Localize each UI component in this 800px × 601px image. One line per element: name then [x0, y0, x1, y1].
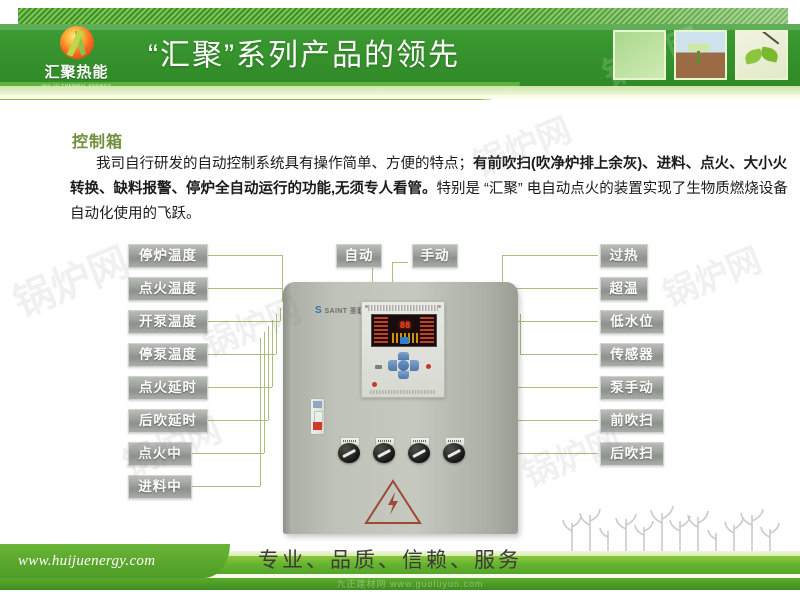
connector-left-3 [206, 321, 280, 322]
connector-right-2 [508, 288, 598, 289]
label-low-water-level[interactable]: 低水位 [600, 310, 664, 334]
connector-left-7-v [264, 332, 265, 453]
power-indicator [372, 382, 377, 387]
control-box-diagram: S SAINT 圣联 88 [0, 236, 800, 536]
led-bar-left [374, 317, 388, 344]
label-ignition-delay[interactable]: 点火延时 [128, 376, 208, 400]
connector-left-7 [188, 453, 264, 454]
connector-left-4-v [276, 314, 277, 354]
display-value: 88 [395, 321, 415, 331]
connector-right-3 [514, 321, 598, 322]
circuit-breaker[interactable] [310, 398, 325, 435]
label-manual[interactable]: 手动 [412, 244, 458, 268]
paragraph-part-1: 我司自行研发的自动控制系统具有操作简单、方便的特点； [96, 156, 473, 172]
footer-slogan: 专业、品质、信赖、服务 [258, 544, 522, 576]
page-title: “汇聚”系列产品的领先 [148, 30, 460, 82]
cabinet-left-edge [283, 282, 293, 534]
brand-mark: S [315, 305, 322, 316]
knob-dial[interactable] [443, 443, 465, 463]
screw-icon [438, 305, 441, 308]
section-title: 控制箱 [72, 128, 123, 152]
footer-url-tab[interactable]: www.huijuenergy.com [0, 544, 230, 578]
controller-title-strip [368, 305, 438, 311]
header-underline-second [0, 95, 800, 99]
arrow-right-icon[interactable] [410, 360, 419, 371]
company-logo: 汇聚热能 HUI JU THERMAL ENERGY [24, 26, 129, 88]
leaf-stem-icon [761, 30, 780, 45]
arrow-up-icon[interactable] [398, 352, 409, 360]
connector-left-6 [206, 420, 268, 421]
label-overheat[interactable]: 过热 [600, 244, 648, 268]
led-bar-right [420, 317, 434, 344]
label-auto[interactable]: 自动 [336, 244, 382, 268]
connector-right-6 [508, 420, 598, 421]
rotary-knob-2[interactable] [373, 437, 395, 463]
connector-right-5 [514, 387, 598, 388]
controller-display: 88 [371, 314, 437, 347]
knob-dial[interactable] [408, 443, 430, 463]
controller-footer-strip [370, 390, 436, 394]
breaker-red-indicator [313, 422, 322, 430]
connector-right-4 [520, 354, 598, 355]
knob-row [338, 437, 468, 467]
logo-english-name: HUI JU THERMAL ENERGY [42, 83, 112, 88]
rotary-knob-4[interactable] [443, 437, 465, 463]
label-pre-purge[interactable]: 前吹扫 [600, 409, 664, 433]
connector-top-manual-v [392, 262, 393, 284]
connector-left-6-v [268, 326, 269, 420]
connector-left-5 [206, 387, 272, 388]
thumb-sprout [674, 30, 727, 80]
header-thumbnails [613, 30, 788, 80]
label-ignition-temp[interactable]: 点火温度 [128, 277, 208, 301]
connector-left-3-v [280, 308, 281, 321]
rotary-knob-3[interactable] [408, 437, 430, 463]
arrow-down-icon[interactable] [398, 371, 409, 379]
thumb-blank [613, 30, 666, 80]
connector-left-4 [206, 354, 276, 355]
connector-left-5-v [272, 320, 273, 387]
led-indicator-blue [400, 337, 409, 344]
danger-warning-icon [363, 478, 423, 526]
connector-right-4-v [520, 314, 521, 354]
label-pump-off-temp[interactable]: 停泵温度 [128, 343, 208, 367]
label-overtemp[interactable]: 超温 [600, 277, 648, 301]
function-button-left[interactable] [375, 365, 382, 369]
brand-text: SAINT 圣联 [324, 308, 364, 315]
control-cabinet: S SAINT 圣联 88 [283, 282, 518, 534]
rotary-knob-1[interactable] [338, 437, 360, 463]
logo-chinese-name: 汇聚热能 [44, 61, 108, 82]
label-sensor[interactable]: 传感器 [600, 343, 664, 367]
alarm-indicator [426, 364, 431, 369]
label-stop-furnace-temp[interactable]: 停炉温度 [128, 244, 208, 268]
knob-dial[interactable] [373, 443, 395, 463]
cabinet-brand: S SAINT 圣联 [315, 305, 365, 316]
connector-right-1 [502, 255, 598, 256]
label-feeding[interactable]: 进料中 [128, 475, 192, 499]
label-postblow-delay[interactable]: 后吹延时 [128, 409, 208, 433]
label-pump-manual[interactable]: 泵手动 [600, 376, 664, 400]
label-igniting[interactable]: 点火中 [128, 442, 192, 466]
navigation-keypad[interactable] [388, 352, 419, 379]
connector-left-2 [206, 288, 282, 289]
footer-watermark: 九正建材网 www.guoluyun.com [140, 578, 680, 590]
controller-unit[interactable]: 88 [361, 301, 445, 398]
knob-dial[interactable] [338, 443, 360, 463]
flame-leaf-icon [60, 26, 94, 59]
label-post-purge[interactable]: 后吹扫 [600, 442, 664, 466]
body-paragraph: 我司自行研发的自动控制系统具有操作简单、方便的特点；有前吹扫(吹净炉排上余灰)、… [70, 152, 790, 227]
header-hatch-strip [18, 8, 788, 24]
sprout-decoration [560, 505, 790, 553]
arrow-left-icon[interactable] [388, 360, 397, 371]
slide-page: 锅炉网 汇聚热能 HUI JU THERMAL ENERGY “汇聚”系列产品的… [0, 0, 800, 601]
connector-left-1 [206, 255, 282, 256]
label-pump-on-temp[interactable]: 开泵温度 [128, 310, 208, 334]
connector-left-8-v [260, 338, 261, 486]
website-url[interactable]: www.huijuenergy.com [18, 553, 155, 570]
enter-button[interactable] [398, 360, 409, 371]
thumb-leaves [735, 30, 788, 80]
breaker-top-contact [313, 401, 322, 408]
connector-top-manual-h [392, 262, 408, 263]
